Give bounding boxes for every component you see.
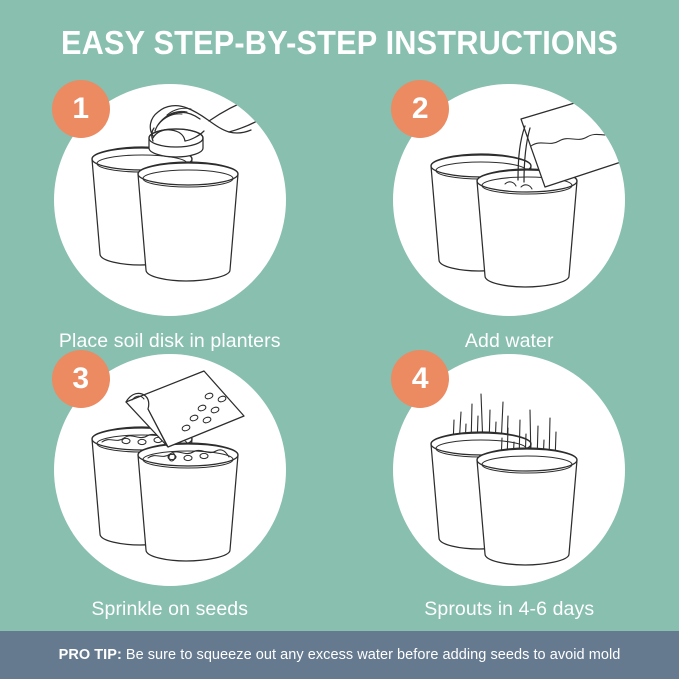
step-number-badge: 4 xyxy=(391,350,449,408)
pro-tip-label: PRO TIP: xyxy=(59,647,122,663)
step-illustration-1: 1 xyxy=(54,84,286,316)
instructions-infographic: EASY STEP-BY-STEP INSTRUCTIONS xyxy=(0,0,679,679)
step-number-badge: 3 xyxy=(52,350,110,408)
step-illustration-2: 2 xyxy=(393,84,625,316)
step-card-2: 2 Add water xyxy=(340,84,679,354)
step-caption: Sprouts in 4-6 days xyxy=(379,598,639,622)
steps-grid: 1 Place soil disk in planters xyxy=(0,84,679,624)
page-title: EASY STEP-BY-STEP INSTRUCTIONS xyxy=(24,24,655,62)
step-number-badge: 2 xyxy=(391,80,449,138)
pro-tip-bar: PRO TIP: Be sure to squeeze out any exce… xyxy=(0,631,679,679)
step-card-3: 3 Sprinkle on seeds xyxy=(0,354,340,624)
step-illustration-3: 3 xyxy=(54,354,286,586)
step-number-badge: 1 xyxy=(52,80,110,138)
step-illustration-4: 4 xyxy=(393,354,625,586)
step-card-1: 1 Place soil disk in planters xyxy=(0,84,340,354)
pro-tip-text: Be sure to squeeze out any excess water … xyxy=(126,647,621,663)
step-caption: Sprinkle on seeds xyxy=(40,598,300,622)
step-card-4: 4 Sprouts in 4-6 days xyxy=(340,354,679,624)
